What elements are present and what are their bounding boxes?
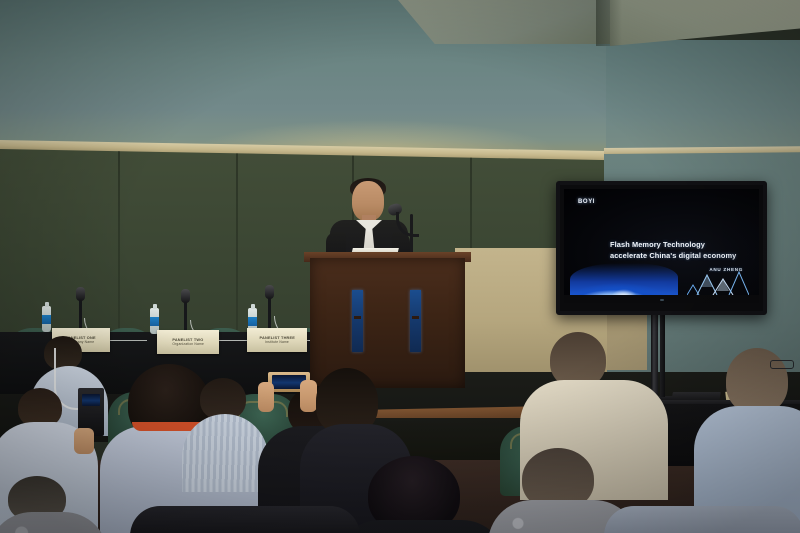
conference-photo: PANELIST ONE Company Name PANELIST TWO O… (0, 0, 800, 533)
audience-group (0, 330, 800, 533)
audience-shoulders (182, 414, 268, 492)
foreground-audience-silhouette (604, 506, 800, 533)
slide-title-line-1: Flash Memory Technology (610, 239, 750, 250)
hand-left-holding-phone (258, 382, 274, 412)
hand-right-holding-phone (300, 380, 317, 412)
slide-logo: BOYI (578, 199, 595, 205)
camera-screen (82, 394, 100, 406)
eyeglasses (770, 360, 794, 369)
slide-screen: BOYI Flash Memory Technology accelerate … (564, 189, 759, 303)
slide-title: Flash Memory Technology accelerate China… (610, 239, 750, 262)
foreground-audience-silhouette (130, 506, 360, 533)
audience-head (726, 348, 788, 414)
slide-mountain-graphic (687, 269, 749, 295)
tv-power-led (660, 299, 664, 301)
presentation-display: BOYI Flash Memory Technology accelerate … (556, 181, 767, 315)
hand-holding-camera (74, 428, 94, 454)
slide-title-line-2: accelerate China's digital economy (610, 250, 750, 261)
slide-wave-graphic (570, 263, 678, 297)
